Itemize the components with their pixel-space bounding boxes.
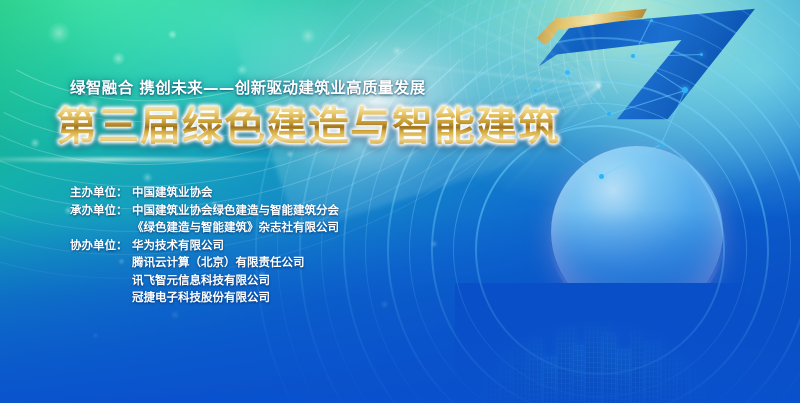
organizer-row: 主办单位：中国建筑业协会 bbox=[70, 184, 339, 202]
organizer-value: 华为技术有限公司 bbox=[132, 237, 224, 255]
organizer-list: 主办单位：中国建筑业协会承办单位：中国建筑业协会绿色建造与智能建筑分会《绿色建造… bbox=[70, 184, 339, 307]
calligraphy-char-3: 大 bbox=[622, 82, 689, 148]
poster-subtitle: 绿智融合 携创未来——创新驱动建筑业高质量发展 bbox=[70, 76, 426, 98]
organizer-row: 承办单位：中国建筑业协会绿色建造与智能建筑分会 bbox=[70, 202, 339, 220]
organizer-row: 讯飞智元信息科技有限公司 bbox=[70, 272, 339, 290]
organizer-row: 冠捷电子科技股份有限公司 bbox=[70, 289, 339, 307]
organizer-label: 承办单位： bbox=[70, 202, 132, 220]
organizer-value: 中国建筑业协会 bbox=[132, 184, 213, 202]
poster-title: 第三届绿色建造与智能建筑 bbox=[56, 106, 560, 147]
organizer-row: 腾讯云计算（北京）有限责任公司 bbox=[70, 254, 339, 272]
calligraphy-char-4: 会 bbox=[685, 66, 753, 139]
organizer-label: 主办单位： bbox=[70, 184, 132, 202]
conference-banner-poster: 绿智融合 携创未来——创新驱动建筑业高质量发展 第三届绿色建造与智能建筑 第三届… bbox=[0, 0, 800, 403]
organizer-row: 协办单位：华为技术有限公司 bbox=[70, 237, 339, 255]
organizer-row: 《绿色建造与智能建筑》杂志社有限公司 bbox=[70, 219, 339, 237]
calligraphy-char-1: 创 bbox=[496, 95, 562, 162]
organizer-label: 协办单位： bbox=[70, 237, 132, 255]
calligraphy-char-2: 新 bbox=[559, 80, 626, 152]
organizer-value: 中国建筑业协会绿色建造与智能建筑分会 bbox=[132, 202, 339, 220]
